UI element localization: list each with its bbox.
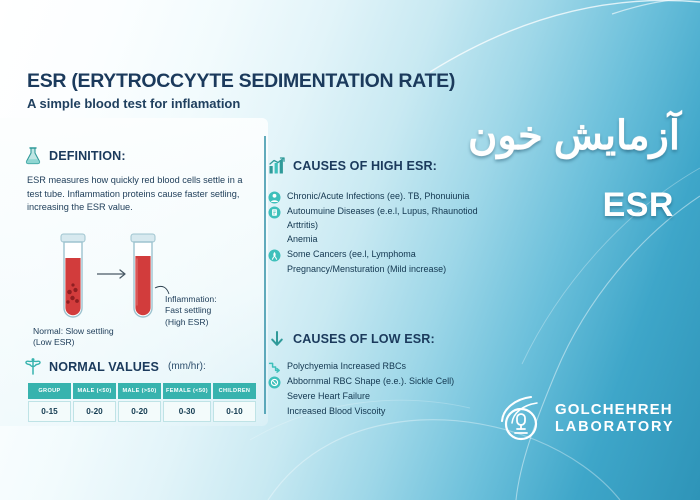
low-esr-item-1: Abbornmal RBC Shape (e.e.). Sickle Cell) bbox=[287, 375, 483, 389]
definition-heading: DEFINITION: bbox=[49, 149, 126, 163]
table-row: 0-15 0-20 0-20 0-30 0-10 bbox=[28, 401, 256, 422]
list-item: Pregnancy/Mensturation (Mild increase) bbox=[268, 263, 483, 277]
document-circle-icon bbox=[268, 206, 281, 219]
list-item: Anemia bbox=[268, 233, 483, 247]
low-esr-item-0: Polychyemia Increased RBCs bbox=[287, 360, 483, 374]
caduceus-icon bbox=[24, 357, 42, 376]
normal-values-heading: NORMAL VALUES bbox=[49, 360, 159, 374]
farsi-headline: آزمایش خون bbox=[468, 113, 680, 159]
tube-normal-caption-line2: (Low ESR) bbox=[33, 337, 114, 348]
list-item: Abbornmal RBC Shape (e.e.). Sickle Cell) bbox=[268, 375, 483, 389]
page-title: ESR (ERYTROCCYYTE SEDIMENTATION RATE) bbox=[27, 70, 455, 93]
logo-company-type: LABORATORY bbox=[555, 419, 674, 435]
list-item: Increased Blood Viscoity bbox=[268, 405, 483, 419]
arrow-down-icon bbox=[268, 330, 286, 348]
esr-headline: ESR bbox=[603, 186, 674, 225]
th-male-over50: MALE (>50) bbox=[118, 383, 161, 399]
list-item: Chronic/Acute Infections (ee). TB, Phonu… bbox=[268, 190, 483, 204]
tube-infl-caption-line2: Fast settling bbox=[165, 305, 257, 316]
definition-header: DEFINITION: bbox=[24, 146, 126, 165]
ribbon-circle-icon bbox=[268, 249, 281, 262]
right-arrow-icon bbox=[97, 270, 125, 278]
high-esr-list: Chronic/Acute Infections (ee). TB, Phonu… bbox=[268, 190, 483, 277]
infographic-poster: ESR (ERYTROCCYYTE SEDIMENTATION RATE) A … bbox=[0, 0, 700, 500]
tube-infl-caption-line1: Inflammation: bbox=[165, 294, 257, 305]
th-female: FEMALE (<50) bbox=[163, 383, 211, 399]
cell-circle-icon bbox=[268, 376, 281, 389]
normal-values-unit: (mm/hr): bbox=[168, 361, 206, 372]
tube-normal bbox=[61, 234, 85, 317]
bar-chart-up-icon bbox=[268, 157, 286, 175]
logo-company-name: GOLCHEHREH bbox=[555, 402, 674, 419]
tube-inflammation-caption: Inflammation: Fast settling (High ESR) bbox=[165, 294, 257, 328]
high-esr-item-3: Some Cancers (ee.l, Lymphoma bbox=[287, 248, 483, 262]
high-esr-heading: CAUSES OF HIGH ESR: bbox=[293, 159, 437, 173]
high-esr-item-0: Chronic/Acute Infections (ee). TB, Phonu… bbox=[287, 190, 483, 204]
td-children: 0-10 bbox=[213, 401, 256, 422]
definition-body: ESR measures how quickly red blood cells… bbox=[27, 174, 245, 215]
tube-normal-caption: Normal: Slow settling (Low ESR) bbox=[33, 326, 114, 349]
td-male-under50: 0-20 bbox=[73, 401, 116, 422]
low-esr-item-2: Severe Heart Failure bbox=[287, 390, 483, 404]
td-female: 0-30 bbox=[163, 401, 211, 422]
list-item: Polychyemia Increased RBCs bbox=[268, 360, 483, 374]
tube-infl-caption-line3: (High ESR) bbox=[165, 317, 257, 328]
logo-text-block: GOLCHEHREH LABORATORY bbox=[555, 402, 674, 435]
high-esr-item-1: Autoumuine Diseases (e.e.l, Lupus, Rhaun… bbox=[287, 205, 483, 232]
list-item: Severe Heart Failure bbox=[268, 390, 483, 404]
person-circle-icon bbox=[268, 191, 281, 204]
flask-icon bbox=[24, 146, 42, 165]
th-group: GROUP bbox=[28, 383, 71, 399]
tube-inflammation bbox=[131, 234, 155, 317]
td-male-over50: 0-20 bbox=[118, 401, 161, 422]
th-male-under50: MALE (<50) bbox=[73, 383, 116, 399]
steps-down-icon bbox=[268, 361, 281, 374]
high-esr-item-4: Pregnancy/Mensturation (Mild increase) bbox=[287, 263, 483, 277]
page-subtitle: A simple blood test for inflamation bbox=[27, 96, 240, 111]
table-header-row: GROUP MALE (<50) MALE (>50) FEMALE (<50)… bbox=[28, 383, 256, 399]
low-esr-heading: CAUSES OF LOW ESR: bbox=[293, 332, 435, 346]
microscope-circle-logo bbox=[497, 393, 547, 445]
column-divider bbox=[264, 136, 266, 414]
low-esr-list: Polychyemia Increased RBCs Abbornmal RBC… bbox=[268, 360, 483, 419]
th-children: CHILDREN bbox=[213, 383, 256, 399]
list-item: Autoumuine Diseases (e.e.l, Lupus, Rhaun… bbox=[268, 205, 483, 232]
high-esr-header: CAUSES OF HIGH ESR: bbox=[268, 157, 437, 175]
high-esr-item-2: Anemia bbox=[287, 233, 483, 247]
company-logo: GOLCHEHREH LABORATORY bbox=[497, 393, 674, 445]
normal-values-table: GROUP MALE (<50) MALE (>50) FEMALE (<50)… bbox=[26, 381, 258, 424]
tube-normal-caption-line1: Normal: Slow settling bbox=[33, 326, 114, 337]
low-esr-item-3: Increased Blood Viscoity bbox=[287, 405, 483, 419]
low-esr-header: CAUSES OF LOW ESR: bbox=[268, 330, 435, 348]
test-tube-illustration: Normal: Slow settling (Low ESR) Inflamma… bbox=[27, 226, 257, 344]
normal-values-header: NORMAL VALUES (mm/hr): bbox=[24, 357, 206, 376]
list-item: Some Cancers (ee.l, Lymphoma bbox=[268, 248, 483, 262]
td-group: 0-15 bbox=[28, 401, 71, 422]
